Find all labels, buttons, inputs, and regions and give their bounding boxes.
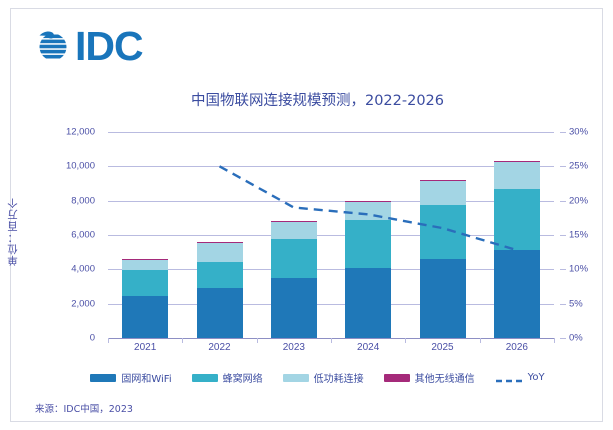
y-tick-mark bbox=[560, 235, 566, 236]
legend-item[interactable]: 蜂窝网络 bbox=[192, 370, 263, 385]
y-tick-label-right: 25% bbox=[569, 161, 588, 172]
legend-label: YoY bbox=[528, 372, 545, 383]
y-tick-mark bbox=[560, 304, 566, 305]
legend-label: 其他无线通信 bbox=[415, 370, 475, 385]
legend-color-swatch bbox=[384, 374, 410, 382]
y-tick-mark bbox=[560, 269, 566, 270]
y-axis-left-ticks: 02,0004,0006,0008,00010,00012,000 bbox=[45, 132, 101, 338]
legend-item[interactable]: 固网和WiFi bbox=[90, 370, 171, 385]
x-tick-label: 2021 bbox=[134, 342, 156, 353]
y-tick-mark bbox=[560, 201, 566, 202]
y-tick-label-left: 6,000 bbox=[71, 230, 95, 241]
x-tick-label: 2025 bbox=[431, 342, 453, 353]
yoy-line-series bbox=[108, 132, 554, 338]
y-tick-label-right: 30% bbox=[569, 127, 588, 138]
idc-logo-text: IDC bbox=[75, 26, 143, 66]
y-tick-mark bbox=[560, 338, 566, 339]
x-axis-labels: 202120222023202420252026 bbox=[108, 342, 554, 360]
legend-color-swatch bbox=[283, 374, 309, 382]
y-tick-label-left: 0 bbox=[90, 333, 95, 344]
legend-color-swatch bbox=[90, 374, 116, 382]
legend-label: 固网和WiFi bbox=[121, 370, 171, 385]
y-tick-label-right: 5% bbox=[569, 298, 583, 309]
y-tick-mark bbox=[560, 132, 566, 133]
y-tick-label-right: 10% bbox=[569, 264, 588, 275]
y-axis-label: 单位：百万个 bbox=[5, 197, 20, 266]
x-tick-label: 2024 bbox=[357, 342, 379, 353]
legend-item[interactable]: 其他无线通信 bbox=[384, 370, 475, 385]
y-tick-label-left: 2,000 bbox=[71, 298, 95, 309]
chart-screenshot: IDC 中国物联网连接规模预测，2022-2026 单位：百万个 02,0004… bbox=[0, 0, 613, 430]
y-tick-label-right: 15% bbox=[569, 230, 588, 241]
legend-item[interactable]: YoY bbox=[495, 372, 545, 383]
x-tick-label: 2026 bbox=[506, 342, 528, 353]
x-tick-mark bbox=[554, 338, 555, 343]
y-tick-label-left: 4,000 bbox=[71, 264, 95, 275]
x-tick-label: 2022 bbox=[208, 342, 230, 353]
plot-area bbox=[108, 132, 554, 338]
source-note: 来源：IDC中国，2023 bbox=[35, 401, 133, 415]
legend-label: 低功耗连接 bbox=[314, 370, 364, 385]
y-tick-label-right: 0% bbox=[569, 333, 583, 344]
y-tick-mark bbox=[560, 166, 566, 167]
chart-legend: 固网和WiFi蜂窝网络低功耗连接其他无线通信YoY bbox=[11, 370, 613, 385]
legend-color-swatch bbox=[192, 374, 218, 382]
y-tick-label-left: 12,000 bbox=[66, 127, 95, 138]
y-axis-right-ticks: 0%5%10%15%20%25%30% bbox=[560, 132, 613, 338]
legend-label: 蜂窝网络 bbox=[223, 370, 263, 385]
legend-dashed-line-icon bbox=[495, 373, 523, 383]
legend-item[interactable]: 低功耗连接 bbox=[283, 370, 364, 385]
y-tick-label-left: 8,000 bbox=[71, 195, 95, 206]
y-tick-label-right: 20% bbox=[569, 195, 588, 206]
chart-title: 中国物联网连接规模预测，2022-2026 bbox=[11, 89, 613, 110]
chart-frame: IDC 中国物联网连接规模预测，2022-2026 单位：百万个 02,0004… bbox=[10, 8, 603, 422]
idc-logo: IDC bbox=[33, 23, 143, 69]
x-tick-label: 2023 bbox=[283, 342, 305, 353]
y-tick-label-left: 10,000 bbox=[66, 161, 95, 172]
idc-globe-icon bbox=[33, 26, 73, 66]
